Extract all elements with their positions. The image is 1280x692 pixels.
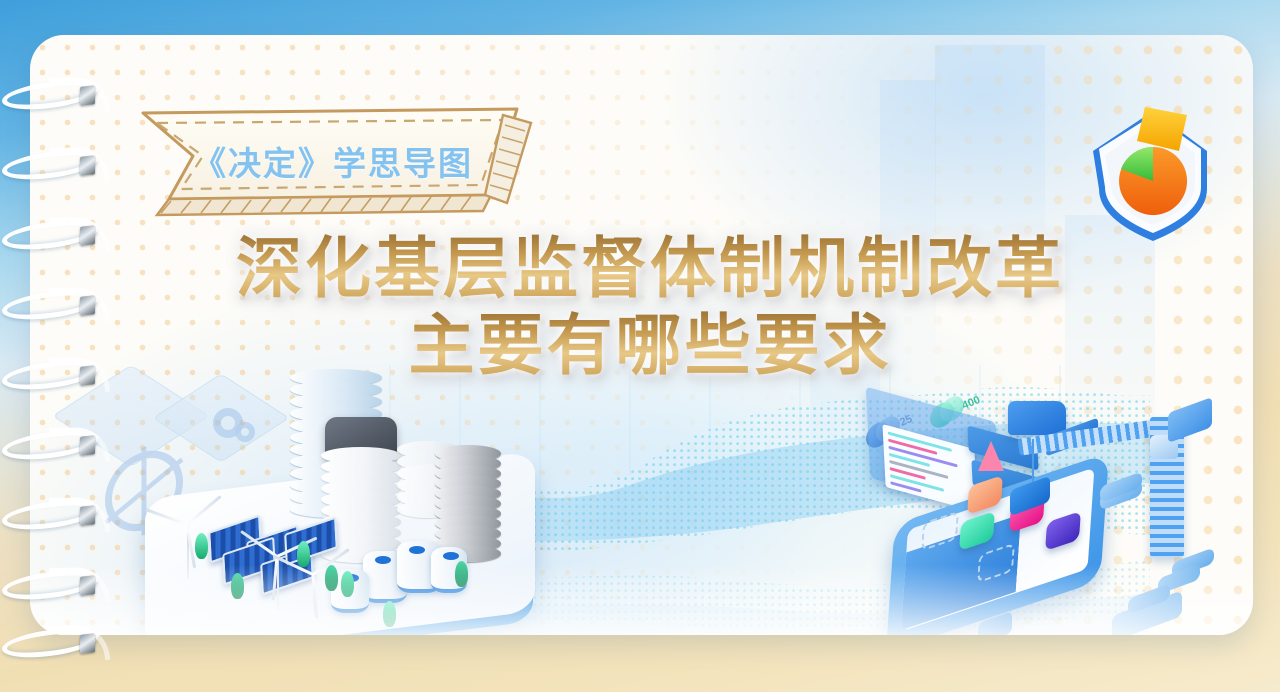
spiral-ring [2,568,114,602]
main-title: 深化基层监督体制机制改革 主要有哪些要求 [150,233,1150,382]
spiral-ring [2,498,114,532]
spiral-ring [2,218,114,252]
tree-icon [297,541,310,567]
traffic-cone-icon [978,441,1004,471]
title-line-1: 深化基层监督体制机制改革 [150,233,1150,304]
crane-counterweight [1168,397,1212,443]
spiral-ring [2,148,114,182]
spiral-ring [2,626,114,660]
poster-card: 25 400 [30,35,1253,635]
crane-cable [1032,439,1034,487]
section-ribbon-banner: 《决定》学思导图 [135,107,535,217]
spiral-ring [2,428,114,462]
banner-title: 《决定》学思导图 [183,137,483,185]
forklift-icon [1008,401,1066,435]
card-bottom-fade [30,565,1253,635]
spiral-binding [0,60,120,640]
spiral-ring [2,78,114,112]
title-line-2: 主要有哪些要求 [150,310,1150,381]
tree-icon [195,533,208,559]
spiral-ring [2,358,114,392]
spiral-ring [2,288,114,322]
coin-value-400: 400 [960,394,982,412]
report-pie-chart-badge [1075,93,1225,253]
